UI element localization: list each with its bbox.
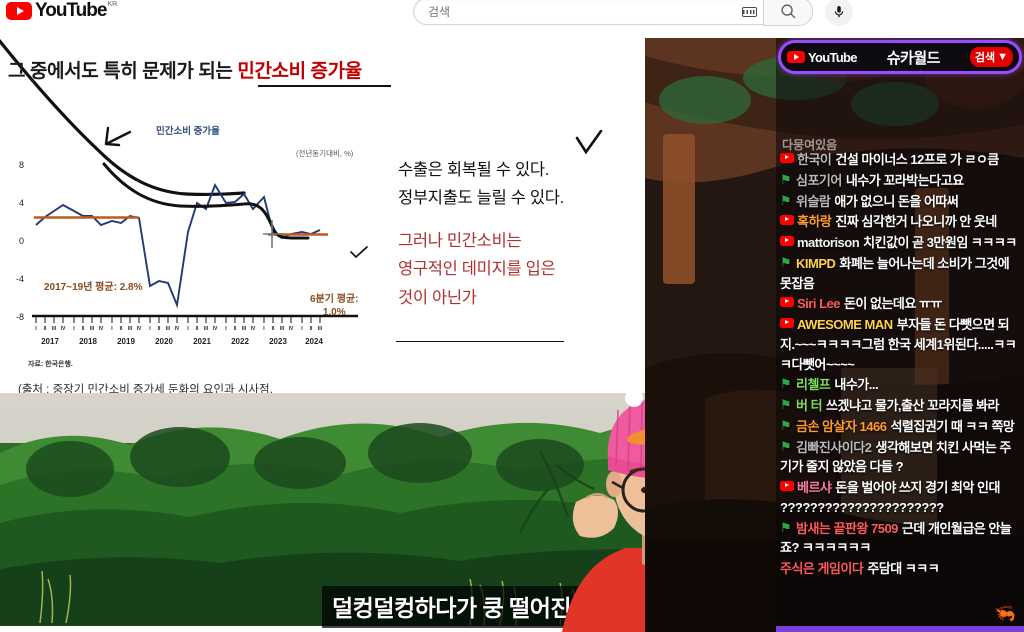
slide-title-highlight: 민간소비 증가율 [237, 61, 361, 82]
chat-message[interactable]: 베르샤돈을 벌어야 쓰지 경기 최악 인대 ??????????????????… [780, 478, 1020, 518]
svg-text:2017: 2017 [41, 337, 59, 346]
search-box[interactable] [413, 0, 763, 25]
member-badge-icon [780, 195, 793, 208]
channel-name: 슈카월드 [887, 47, 940, 68]
youtube-logo[interactable]: YouTube KR [6, 2, 117, 20]
note-black-line-1: 수출은 회복될 수 있다. [398, 156, 638, 184]
chat-text: 건설 마이너스 12프로 가 ㄹㅇ큼 [835, 152, 998, 167]
svg-text:2018: 2018 [79, 337, 97, 346]
chat-message[interactable]: 혹하랑진짜 심각한거 나오니까 안 웃네 [780, 212, 1020, 232]
chat-text: 쓰겠냐고 물가,출산 꼬라지를 봐라 [826, 398, 999, 413]
svg-text:IV: IV [61, 326, 66, 332]
shrimp-emoji: 🦐 [995, 604, 1016, 624]
chat-author[interactable]: 혹하랑 [797, 214, 831, 229]
svg-text:II: II [44, 326, 47, 332]
note-underline [396, 341, 564, 342]
title-underline [258, 85, 391, 87]
chat-message[interactable]: 주식은 게임이다주담대 ㅋㅋㅋ [780, 559, 1020, 579]
live-chat-panel[interactable]: YouTube 슈카월드 검색 ▼ 다뭉여있음 한국이건설 마이너스 12프로 … [776, 38, 1024, 632]
year-labels: 20172018 20192020 20212022 20232024 [41, 337, 323, 346]
svg-text:IV: IV [175, 326, 180, 332]
svg-text:II: II [310, 326, 313, 332]
svg-text:IV: IV [213, 326, 218, 332]
chat-message[interactable]: KIMPD화폐는 늘어나는데 소비가 그것에 못잡음 [780, 254, 1020, 294]
svg-text:I: I [149, 326, 151, 332]
browser-top-bar: YouTube KR [0, 0, 1024, 38]
svg-text:III: III [204, 326, 209, 332]
chat-message-list[interactable]: 한국이건설 마이너스 12프로 가 ㄹㅇ큼심포기어내수가 꼬라박는다고요위슬람애… [776, 150, 1024, 580]
ytick-8: 8 [19, 160, 24, 170]
svg-text:I: I [73, 326, 75, 332]
chart-plot: 8 4 0 -4 -8 [8, 116, 368, 368]
svg-text:IV: IV [251, 326, 256, 332]
presentation-slide: 그 중에서도 특히 문제가 되는 민간소비 증가율 민간소비 증가율 (전년동기… [0, 38, 645, 393]
youtube-badge-icon [780, 297, 794, 307]
search-icon [780, 3, 797, 20]
slide-title-prefix: 그 중에서도 특히 문제가 되는 [8, 61, 237, 82]
chat-message[interactable]: mattorison치킨값이 곧 3만원임 ㅋㅋㅋㅋ [780, 233, 1020, 253]
search-input[interactable] [428, 5, 742, 19]
member-badge-icon [780, 257, 793, 270]
chat-text: 애가 없으니 돈을 어따써 [834, 194, 958, 209]
handwritten-check-mark-note [574, 130, 604, 158]
youtube-logo-text: YouTube [35, 2, 106, 20]
chat-message[interactable]: Siri Lee돈이 없는데요 ㅠㅠ [780, 294, 1020, 314]
svg-text:2020: 2020 [155, 337, 173, 346]
chat-message[interactable]: 버 터쓰겠냐고 물가,출산 꼬라지를 봐라 [780, 396, 1020, 416]
svg-text:II: II [82, 326, 85, 332]
handwritten-notes: 수출은 회복될 수 있다. 정부지출도 늘릴 수 있다. 그러나 민간소비는 영… [398, 156, 638, 312]
keyboard-icon[interactable] [742, 7, 757, 17]
svg-text:IV: IV [289, 326, 294, 332]
svg-text:I: I [301, 326, 303, 332]
chat-author[interactable]: 베르샤 [797, 480, 831, 495]
chat-header: YouTube 슈카월드 검색 ▼ [778, 40, 1022, 74]
svg-text:III: III [166, 326, 171, 332]
chat-author[interactable]: 김빠진사이다2 [796, 440, 872, 455]
svg-text:2019: 2019 [117, 337, 135, 346]
page-title: 그 중에서도 특히 문제가 되는 민간소비 증가율 [8, 56, 362, 83]
member-badge-icon [780, 420, 793, 433]
ytick-neg4: -4 [16, 274, 24, 284]
member-badge-icon [780, 441, 793, 454]
chat-text: 돈이 없는데요 ㅠㅠ [844, 296, 942, 311]
chat-author[interactable]: 심포기어 [796, 173, 842, 188]
note-black-line-2: 정부지출도 늘릴 수 있다. [398, 184, 638, 212]
handwritten-overlay-curve [104, 164, 308, 238]
svg-text:II: II [196, 326, 199, 332]
svg-text:2024: 2024 [305, 337, 323, 346]
consumption-growth-chart: 민간소비 증가율 (전년동기대비, %) 8 4 0 -4 -8 [8, 116, 368, 368]
chat-author[interactable]: 한국이 [797, 152, 831, 167]
annotation-average-6-quarters: 6분기 평균:1.0% [310, 294, 358, 319]
microphone-icon [832, 4, 846, 20]
chat-message[interactable]: 한국이건설 마이너스 12프로 가 ㄹㅇ큼 [780, 150, 1020, 170]
chat-message[interactable]: 심포기어내수가 꼬라박는다고요 [780, 171, 1020, 191]
chat-brand: YouTube [787, 50, 857, 65]
chat-author[interactable]: 위슬람 [796, 194, 830, 209]
chat-search-button[interactable]: 검색 ▼ [970, 47, 1013, 67]
svg-text:2021: 2021 [193, 337, 211, 346]
svg-text:II: II [234, 326, 237, 332]
chat-text: 진짜 심각한거 나오니까 안 웃네 [835, 214, 996, 229]
youtube-badge-icon [780, 215, 794, 225]
youtube-country-code: KR [107, 1, 117, 8]
chart-source-note: 자료: 한국은행. [28, 359, 73, 369]
note-red-line-1: 그러나 민간소비는 [398, 227, 638, 255]
svg-text:IV: IV [99, 326, 104, 332]
svg-text:I: I [225, 326, 227, 332]
youtube-badge-icon [780, 318, 794, 328]
chat-author[interactable]: 밤새는 끝판왕 7509 [796, 521, 898, 536]
svg-text:III: III [52, 326, 57, 332]
svg-text:I: I [263, 326, 265, 332]
chat-author[interactable]: 금손 암살자 1466 [796, 419, 886, 434]
svg-text:I: I [111, 326, 113, 332]
note-red-line-2: 영구적인 데미지를 입은 [398, 255, 638, 283]
hand [573, 495, 618, 537]
ytick-4: 4 [19, 198, 24, 208]
youtube-badge-icon [780, 236, 794, 246]
chat-text: 석렬집권기 때 ㅋㅋ 쪽망 [890, 419, 1014, 434]
youtube-badge-icon [780, 153, 794, 163]
chat-text: 치킨값이 곧 3만원임 ㅋㅋㅋㅋ [863, 235, 1017, 250]
member-badge-icon [780, 378, 793, 391]
chat-message[interactable]: 금손 암살자 1466석렬집권기 때 ㅋㅋ 쪽망 [780, 417, 1020, 437]
kdi-source-note: (출처 : 중장기 민간소비 증가세 둔화의 요인과 시사점, KDI 연구위원… [18, 382, 273, 393]
chat-author[interactable]: 버 터 [796, 398, 822, 413]
svg-text:I: I [35, 326, 37, 332]
chat-author[interactable]: AWESOME MAN [797, 317, 893, 332]
pompom [625, 389, 643, 407]
chat-message[interactable]: 김빠진사이다2생각해보면 치킨 사먹는 주기가 줄지 않았음 다들 ? [780, 438, 1020, 478]
svg-text:I: I [187, 326, 189, 332]
note-red-line-3: 것이 아닌가 [398, 284, 638, 312]
svg-text:2022: 2022 [231, 337, 249, 346]
youtube-badge-icon [780, 481, 794, 491]
svg-text:III: III [90, 326, 95, 332]
member-badge-icon [780, 522, 793, 535]
chat-author[interactable]: mattorison [797, 235, 859, 250]
chat-author[interactable]: Siri Lee [797, 296, 840, 311]
chat-message[interactable]: 위슬람애가 없으니 돈을 어따써 [780, 192, 1020, 212]
svg-text:III: III [318, 326, 323, 332]
youtube-play-icon-small [787, 51, 805, 64]
svg-text:III: III [242, 326, 247, 332]
annotation-average-2017-2019: 2017~19년 평균: 2.8% [44, 278, 143, 293]
chat-bottom-bar [776, 626, 1024, 632]
svg-text:II: II [272, 326, 275, 332]
chat-text: 주담대 ㅋㅋㅋ [867, 561, 939, 576]
notes-spacer [398, 213, 638, 227]
chat-search-label: 검색 [975, 49, 995, 65]
quarter-ticks: IIIIIIIV IIIIIIIV IIIIIIIV IIIIIIIV IIII… [35, 316, 322, 332]
chevron-down-icon: ▼ [997, 51, 1008, 63]
svg-text:III: III [280, 326, 285, 332]
svg-text:IV: IV [137, 326, 142, 332]
chat-message[interactable]: 밤새는 끝판왕 7509근데 개인월급은 안늘죠? ㅋㅋㅋㅋㅋㅋ [780, 519, 1020, 559]
member-badge-icon [780, 174, 793, 187]
chat-message[interactable]: 리첼프내수가... [780, 375, 1020, 395]
search-button[interactable] [763, 0, 813, 26]
ytick-neg8: -8 [16, 312, 24, 322]
svg-text:III: III [128, 326, 133, 332]
chat-author[interactable]: KIMPD [796, 256, 835, 271]
svg-text:II: II [120, 326, 123, 332]
voice-search-button[interactable] [825, 0, 853, 26]
handwritten-check-mark-chart [349, 246, 369, 260]
search-area [413, 0, 853, 26]
ytick-0: 0 [19, 236, 24, 246]
svg-text:2023: 2023 [269, 337, 287, 346]
chat-message[interactable]: AWESOME MAN부자들 돈 다뺏으면 되지.~~~ㅋㅋㅋㅋ그럼 한국 세계… [780, 315, 1020, 374]
chat-text: 내수가... [834, 377, 878, 392]
youtube-play-icon [6, 2, 32, 20]
chat-text: 내수가 꼬라박는다고요 [846, 173, 964, 188]
chat-author[interactable]: 리첼프 [796, 377, 830, 392]
handwritten-crosshair [263, 220, 285, 248]
chat-author[interactable]: 주식은 게임이다 [780, 561, 863, 576]
svg-text:II: II [158, 326, 161, 332]
chat-brand-text: YouTube [808, 50, 857, 65]
member-badge-icon [780, 399, 793, 412]
